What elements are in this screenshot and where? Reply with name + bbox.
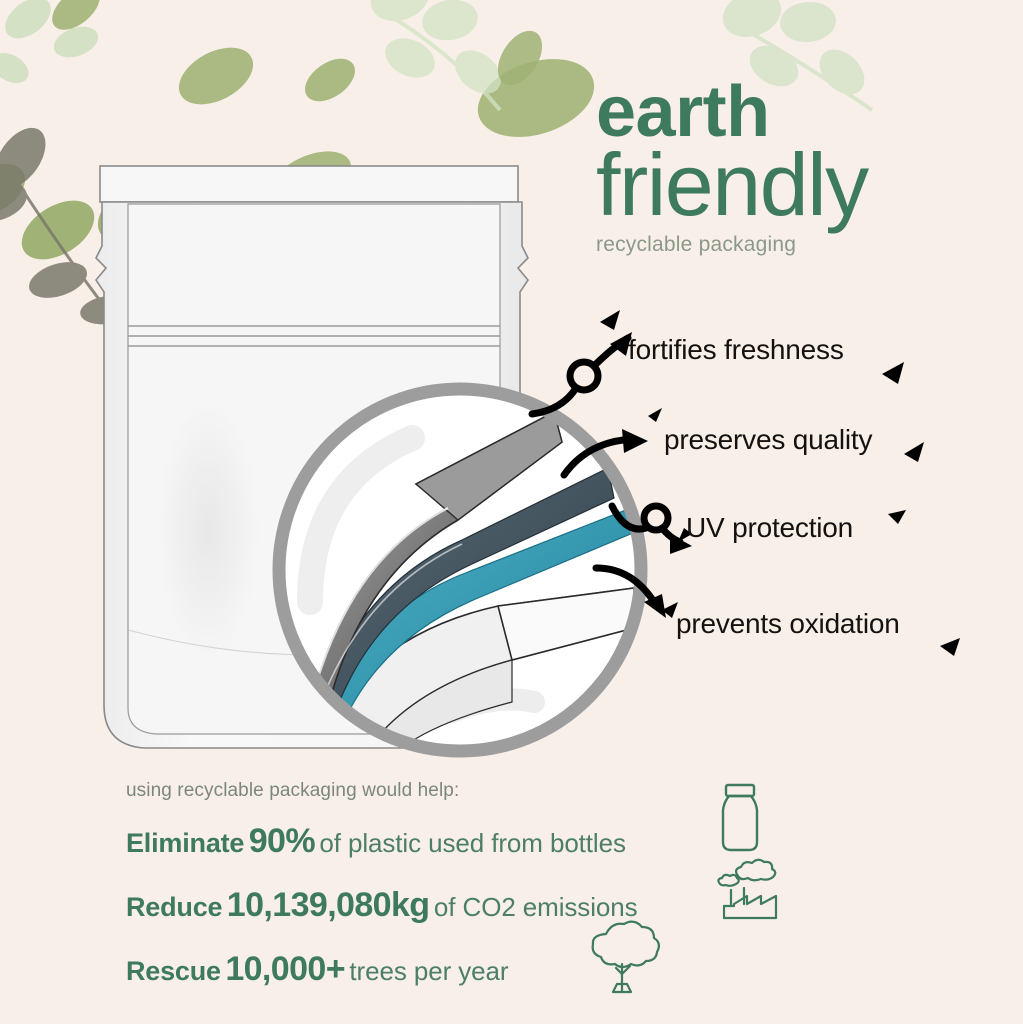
- sparkle-icon-6: [884, 506, 910, 532]
- stat-row-reduce: Reduce 10,139,080kg of CO2 emissions: [126, 886, 638, 925]
- sparkle-icon-8: [936, 634, 964, 662]
- factory-icon: [714, 862, 784, 922]
- stat-verb-reduce: Reduce: [126, 892, 222, 922]
- feature-label-uv-protection: UV protection: [686, 512, 853, 544]
- stat-row-rescue: Rescue 10,000+ trees per year: [126, 950, 508, 989]
- sparkle-icon-4: [900, 440, 930, 470]
- feature-label-preserves-quality: preserves quality: [664, 424, 872, 456]
- curved-arrow-icon-quality: [560, 425, 680, 485]
- stats-intro: using recyclable packaging would help:: [126, 780, 766, 802]
- stat-value-reduce: 10,139,080kg: [227, 886, 430, 924]
- sparkle-icon-2: [876, 358, 910, 392]
- stat-verb-eliminate: Eliminate: [126, 828, 244, 858]
- stat-tail-rescue: trees per year: [349, 956, 508, 986]
- stat-value-rescue: 10,000+: [225, 950, 345, 988]
- leaf-decoration-top-right: [460, 18, 580, 98]
- stat-tail-eliminate: of plastic used from bottles: [319, 828, 625, 858]
- headline-subtitle: recyclable packaging: [596, 233, 1016, 257]
- feature-label-prevents-oxidation: prevents oxidation: [676, 608, 900, 640]
- tree-icon: [576, 918, 668, 1000]
- bottle-icon: [714, 782, 766, 854]
- infographic-canvas: earth friendly recyclable packaging: [0, 0, 1023, 1024]
- stat-value-eliminate: 90%: [249, 822, 315, 860]
- stats-block: using recyclable packaging would help: E…: [126, 780, 766, 802]
- feature-label-fortifies-freshness: fortifies freshness: [628, 334, 844, 366]
- stat-row-eliminate: Eliminate 90% of plastic used from bottl…: [126, 822, 626, 861]
- stat-verb-rescue: Rescue: [126, 956, 221, 986]
- headline-friendly: friendly: [596, 143, 1016, 227]
- headline-block: earth friendly recyclable packaging: [596, 78, 1016, 257]
- sparkle-icon-1: [596, 308, 630, 342]
